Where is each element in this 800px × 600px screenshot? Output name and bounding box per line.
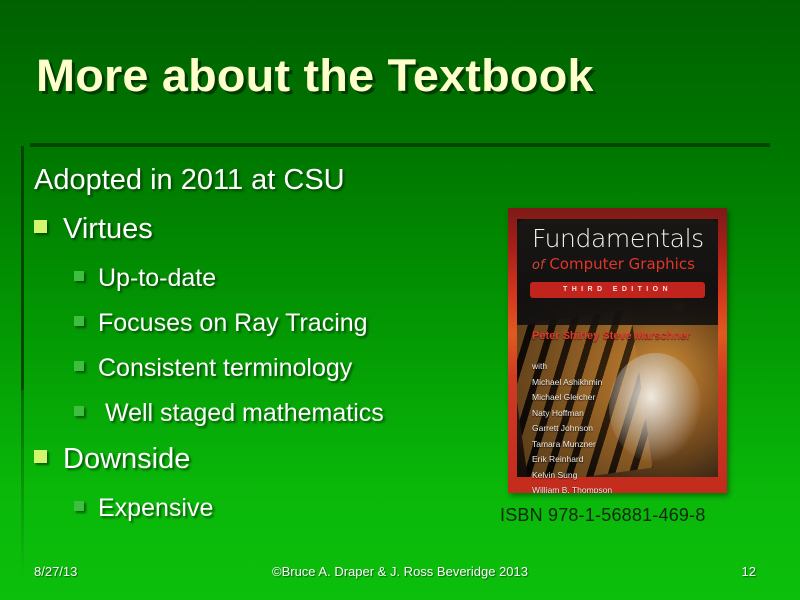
tiger-muzzle [609, 353, 701, 461]
cover-title-of: of [532, 258, 545, 273]
bullet-line: Downside [0, 436, 500, 482]
bullet-text: Consistent terminology [98, 346, 352, 391]
title-divider [30, 143, 770, 147]
page-title: More about the Textbook [36, 50, 594, 102]
bullet-text: Adopted in 2011 at CSU [34, 158, 345, 202]
square-bullet-icon [34, 220, 47, 233]
bullet-line: Adopted in 2011 at CSU [0, 158, 500, 202]
cover-title-main: Fundamentals [532, 224, 704, 253]
cover-edition-badge: THIRD EDITION [530, 282, 705, 298]
cover-title-sub: Computer Graphics [549, 255, 695, 273]
bullet-text: Downside [63, 436, 190, 482]
cover-contributor: Michael Ashikhmin [532, 376, 612, 389]
isbn-caption: ISBN 978-1-56881-469-8 [500, 505, 706, 526]
cover-title-subtitle: of Computer Graphics [532, 255, 695, 273]
presentation-slide: More about the Textbook Adopted in 2011 … [0, 0, 800, 600]
cover-contributor: William B. Thompson [532, 484, 612, 493]
square-bullet-icon [74, 271, 84, 281]
cover-authors: Peter Shirley Steve Marschner [532, 330, 690, 343]
bullet-line: Virtues [0, 206, 500, 252]
cover-contributor: Michael Gleicher [532, 391, 612, 404]
square-bullet-icon [74, 361, 84, 371]
slide-body: Adopted in 2011 at CSU Virtues Up-to-dat… [0, 158, 500, 531]
square-bullet-icon [74, 406, 84, 416]
bullet-line: Focuses on Ray Tracing [0, 301, 500, 346]
bullet-text: Virtues [63, 206, 153, 252]
cover-with-label: with [532, 360, 612, 373]
cover-contributor: Erik Reinhard [532, 453, 612, 466]
cover-contributor: Kelvin Sung [532, 469, 612, 482]
bullet-text: Expensive [98, 486, 213, 531]
slide-footer: 8/27/13 ©Bruce A. Draper & J. Ross Bever… [0, 564, 800, 584]
bullet-line: Up-to-date [0, 256, 500, 301]
cover-contributor: Tamara Munzner [532, 438, 612, 451]
book-cover-image: Fundamentals of Computer Graphics THIRD … [508, 208, 727, 493]
bullet-line: Expensive [0, 486, 500, 531]
cover-contributor: Naty Hoffman [532, 407, 612, 420]
bullet-line: Consistent terminology [0, 346, 500, 391]
footer-copyright: ©Bruce A. Draper & J. Ross Beveridge 201… [0, 564, 800, 579]
footer-page-number: 12 [742, 564, 756, 579]
square-bullet-icon [34, 450, 47, 463]
bullet-text: Up-to-date [98, 256, 216, 301]
cover-contributor: Garrett Johnson [532, 422, 612, 435]
bullet-text: Well staged mathematics [98, 391, 384, 436]
square-bullet-icon [74, 501, 84, 511]
square-bullet-icon [74, 316, 84, 326]
bullet-line: Well staged mathematics [0, 391, 500, 436]
bullet-text: Focuses on Ray Tracing [98, 301, 368, 346]
cover-contributors: with Michael Ashikhmin Michael Gleicher … [532, 360, 612, 493]
